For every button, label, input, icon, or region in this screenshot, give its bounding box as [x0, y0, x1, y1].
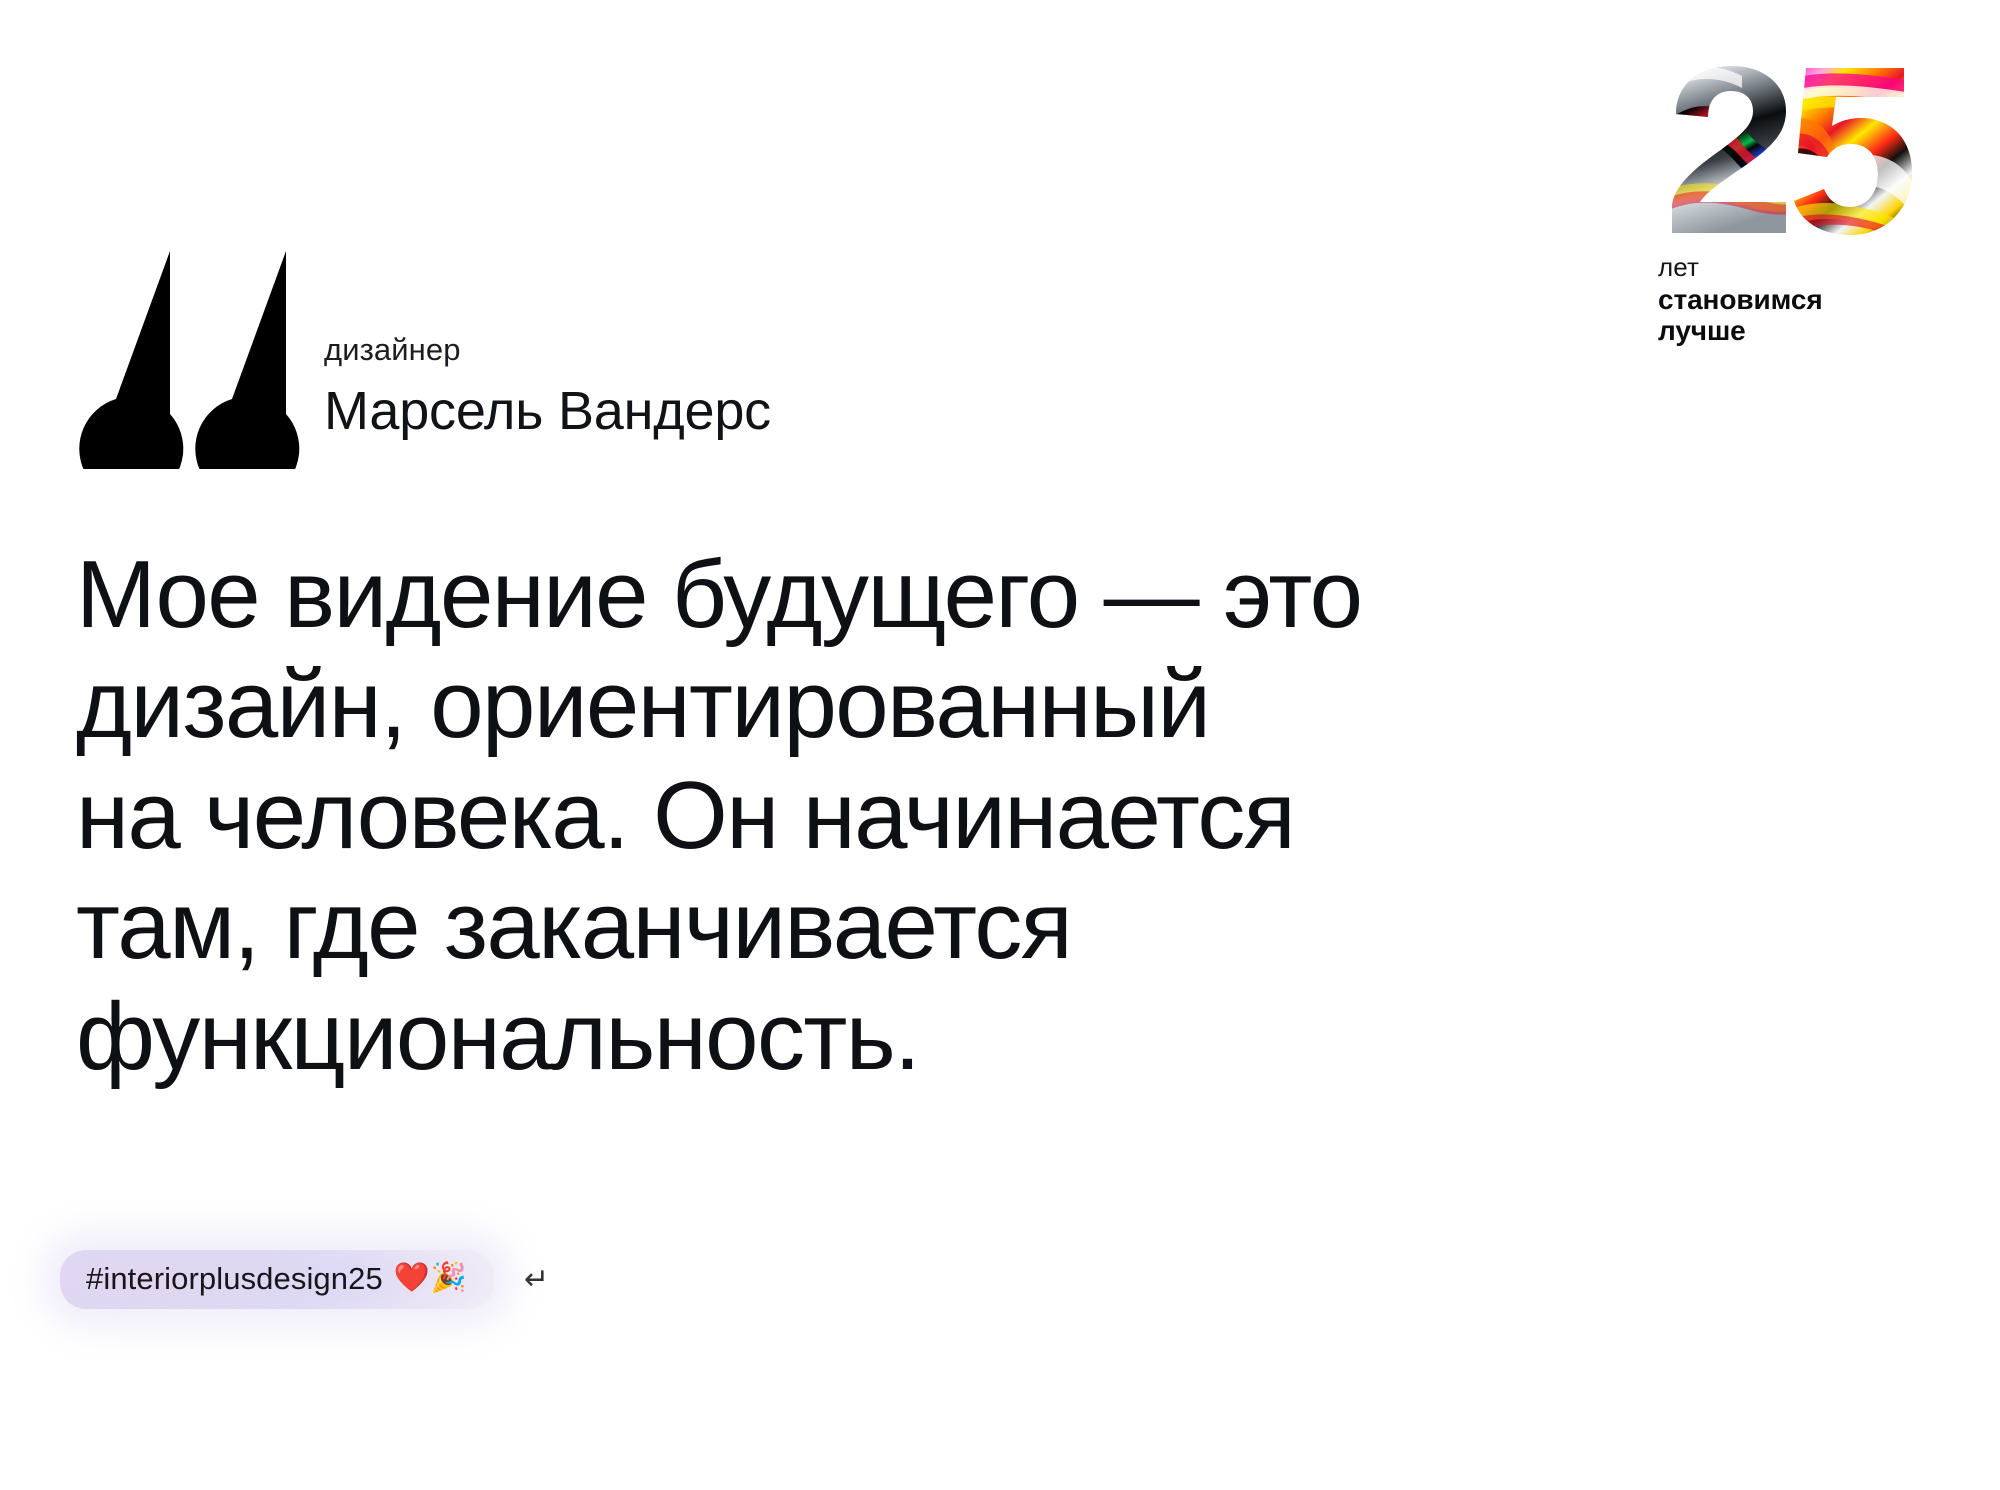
logo-tagline: становимся лучше — [1658, 284, 1938, 347]
enter-return-icon[interactable]: ↵ — [524, 1265, 549, 1295]
hashtag-row: #interiorplusdesign25 ❤️🎉 ↵ — [60, 1250, 549, 1309]
heart-party-emoji: ❤️🎉 — [394, 1264, 468, 1293]
logo-caption: лет становимся лучше — [1658, 254, 1938, 346]
quote-line: дизайн, ориентированный — [76, 650, 1906, 760]
quote-line: Мое видение будущего — это — [76, 540, 1906, 650]
quote-line: функциональность. — [76, 982, 1906, 1092]
quote-line: на человека. Он начинается — [76, 761, 1906, 871]
hashtag-text: #interiorplusdesign25 — [86, 1263, 383, 1294]
author-role: дизайнер — [324, 334, 771, 365]
quote-header: дизайнер Марсель Вандерс — [78, 240, 771, 469]
author-name: Марсель Вандерс — [324, 381, 771, 441]
slide-canvas: лет становимся лучше дизайнер Марсель Ва… — [0, 0, 2000, 1490]
logo-25-number — [1658, 62, 1918, 237]
logo-tagline-line2: лучше — [1658, 315, 1938, 346]
logo-years-label: лет — [1658, 254, 1938, 282]
logo-tagline-line1: становимся — [1658, 284, 1938, 315]
quote-attribution: дизайнер Марсель Вандерс — [324, 240, 771, 441]
quote-open-mark-icon — [78, 251, 300, 469]
quote-line: там, где заканчивается — [76, 871, 1906, 981]
anniversary-logo: лет становимся лучше — [1655, 62, 1945, 362]
hashtag-pill[interactable]: #interiorplusdesign25 ❤️🎉 — [60, 1250, 494, 1309]
quote-text: Мое видение будущего — это дизайн, ориен… — [76, 540, 1906, 1092]
